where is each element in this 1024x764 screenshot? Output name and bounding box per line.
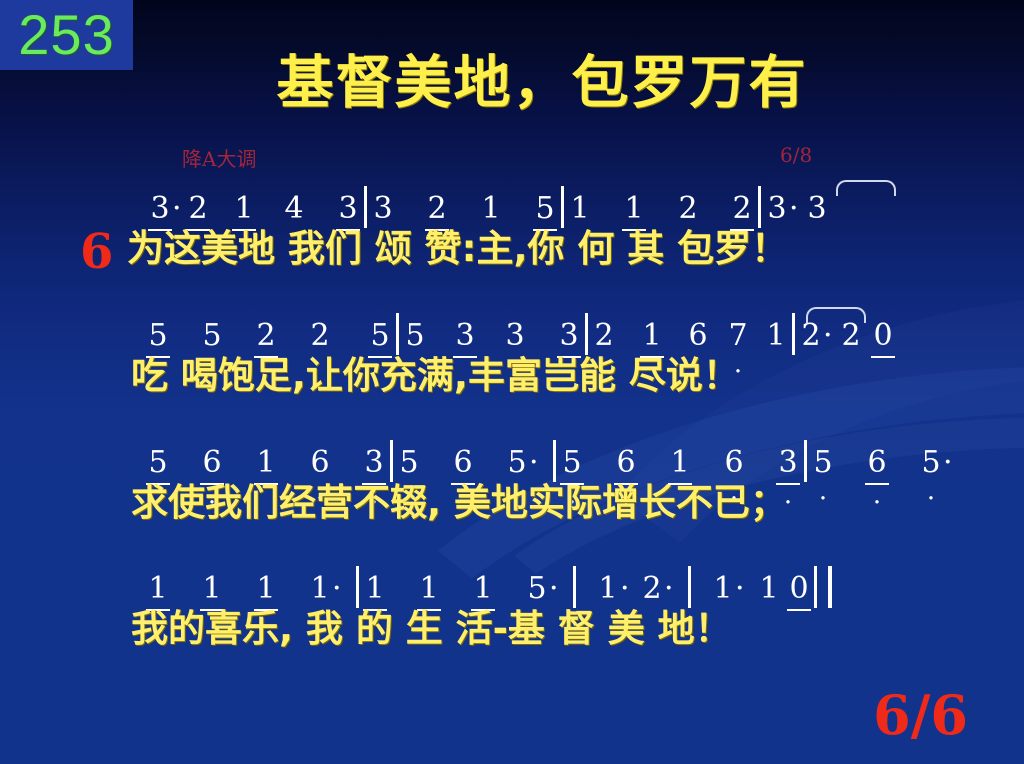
note: 1 xyxy=(757,570,781,608)
barline xyxy=(792,313,795,355)
note: 3 xyxy=(148,190,172,231)
augmentation-dot: · xyxy=(549,570,569,608)
note: 3 xyxy=(765,190,789,228)
note: 6 xyxy=(308,444,332,482)
augmentation-dot: · xyxy=(620,570,640,608)
note: 5 xyxy=(146,444,170,485)
note: 1 xyxy=(254,570,278,611)
barline xyxy=(396,313,399,355)
note: 1 xyxy=(200,570,224,611)
note: 6 xyxy=(686,317,710,355)
note: 2 xyxy=(308,317,332,355)
note: 1 xyxy=(479,190,503,228)
note: 5 xyxy=(397,444,421,482)
page-title: 基督美地，包罗万有 xyxy=(0,52,1024,114)
note: 5 xyxy=(505,444,529,482)
note: 5 xyxy=(525,570,549,608)
key-signature: 降A大调 xyxy=(182,143,256,172)
note: 3 xyxy=(336,190,360,231)
note: 2 xyxy=(425,190,449,231)
lyrics-line-1: 为这美地 我们 颂 赞:主,你 何 其 包罗！ xyxy=(0,226,1024,272)
note: 1 xyxy=(254,444,278,485)
note: 2 xyxy=(254,317,278,358)
note: 5 xyxy=(919,444,943,482)
note: 1 xyxy=(308,570,332,608)
note: 5 xyxy=(403,317,427,355)
hymn-slide: 253 基督美地，包罗万有 降A大调 6/8 6 3·2143321511223… xyxy=(0,0,1024,764)
lyrics-line-3: 求使我们经营不辍, 美地实际增长不已； xyxy=(0,480,1024,526)
music-meta: 降A大调 6/8 xyxy=(0,143,1024,167)
staff-system-2: 552255333216712·20 吃 喝饱足,让你充满,丰富岂能 尽说！ xyxy=(0,313,1024,399)
note: 3 xyxy=(503,317,527,355)
note: 3 xyxy=(557,317,581,358)
note: 1 xyxy=(622,190,646,231)
tie-slur xyxy=(806,307,866,323)
note: 1 xyxy=(764,317,788,355)
time-signature: 6/8 xyxy=(780,143,812,167)
notation-line-2: 552255333216712·20 xyxy=(0,313,1024,353)
note: 2 xyxy=(730,190,754,231)
page-indicator: 6/6 xyxy=(873,688,968,742)
augmentation-dot: · xyxy=(789,190,805,228)
augmentation-dot: · xyxy=(529,444,549,482)
note: 2 xyxy=(186,190,210,231)
note: 2 xyxy=(640,570,664,608)
note: 6 xyxy=(614,444,638,485)
note: 2 xyxy=(676,190,700,228)
final-barline xyxy=(814,566,832,608)
note: 1 xyxy=(232,190,256,231)
note: 1 xyxy=(471,570,495,611)
note: 2 xyxy=(592,317,616,355)
note: 6 xyxy=(865,444,889,485)
barline xyxy=(390,440,393,482)
barline xyxy=(585,313,588,355)
note: 7 xyxy=(726,317,750,355)
augmentation-dot: · xyxy=(172,190,186,228)
rest: 0 xyxy=(871,317,895,358)
note: 1 xyxy=(711,570,735,608)
tie-slur xyxy=(836,180,896,196)
note: 4 xyxy=(282,190,306,228)
note: 5 xyxy=(811,444,835,482)
notation-line-1: 3·2143321511223·3 xyxy=(0,186,1024,226)
barline xyxy=(804,440,807,482)
notation-line-4: 1111·1115·1·2·1·10 xyxy=(0,566,1024,606)
note: 5 xyxy=(368,317,392,358)
note: 1 xyxy=(596,570,620,608)
lyrics-line-4: 我的喜乐, 我 的 生 活-基 督 美 地！ xyxy=(0,606,1024,652)
note: 1 xyxy=(668,444,692,485)
note: 3 xyxy=(371,190,395,228)
augmentation-dot: · xyxy=(735,570,757,608)
note: 1 xyxy=(363,570,387,611)
barline xyxy=(688,566,691,608)
augmentation-dot: · xyxy=(943,444,963,482)
note: 6 xyxy=(200,444,224,485)
barline xyxy=(356,566,359,608)
staff-system-1: 3·2143321511223·3 为这美地 我们 颂 赞:主,你 何 其 包罗… xyxy=(0,186,1024,272)
augmentation-dot: · xyxy=(332,570,352,608)
note: 5 xyxy=(146,317,170,358)
note: 1 xyxy=(146,570,170,611)
note: 1 xyxy=(568,190,592,228)
note: 1 xyxy=(417,570,441,611)
note: 6 xyxy=(451,444,475,485)
note: 5 xyxy=(560,444,584,485)
rest: 0 xyxy=(787,570,811,611)
note: 5 xyxy=(533,190,557,231)
barline xyxy=(758,186,761,228)
note: 3 xyxy=(362,444,386,485)
note: 6 xyxy=(722,444,746,482)
note: 1 xyxy=(640,317,664,358)
note: 3 xyxy=(453,317,477,358)
staff-system-4: 1111·1115·1·2·1·10 我的喜乐, 我 的 生 活-基 督 美 地… xyxy=(0,566,1024,652)
note: 3 xyxy=(805,190,829,228)
lyrics-line-2: 吃 喝饱足,让你充满,丰富岂能 尽说！ xyxy=(0,353,1024,399)
note: 5 xyxy=(200,317,224,355)
notation-line-3: 56163565·56163565· xyxy=(0,440,1024,480)
barline xyxy=(561,186,564,228)
staff-system-3: 56163565·56163565· 求使我们经营不辍, 美地实际增长不已； xyxy=(0,440,1024,526)
barline xyxy=(364,186,367,228)
note: 3 xyxy=(776,444,800,485)
augmentation-dot: · xyxy=(664,570,684,608)
barline xyxy=(573,566,576,608)
barline xyxy=(553,440,556,482)
